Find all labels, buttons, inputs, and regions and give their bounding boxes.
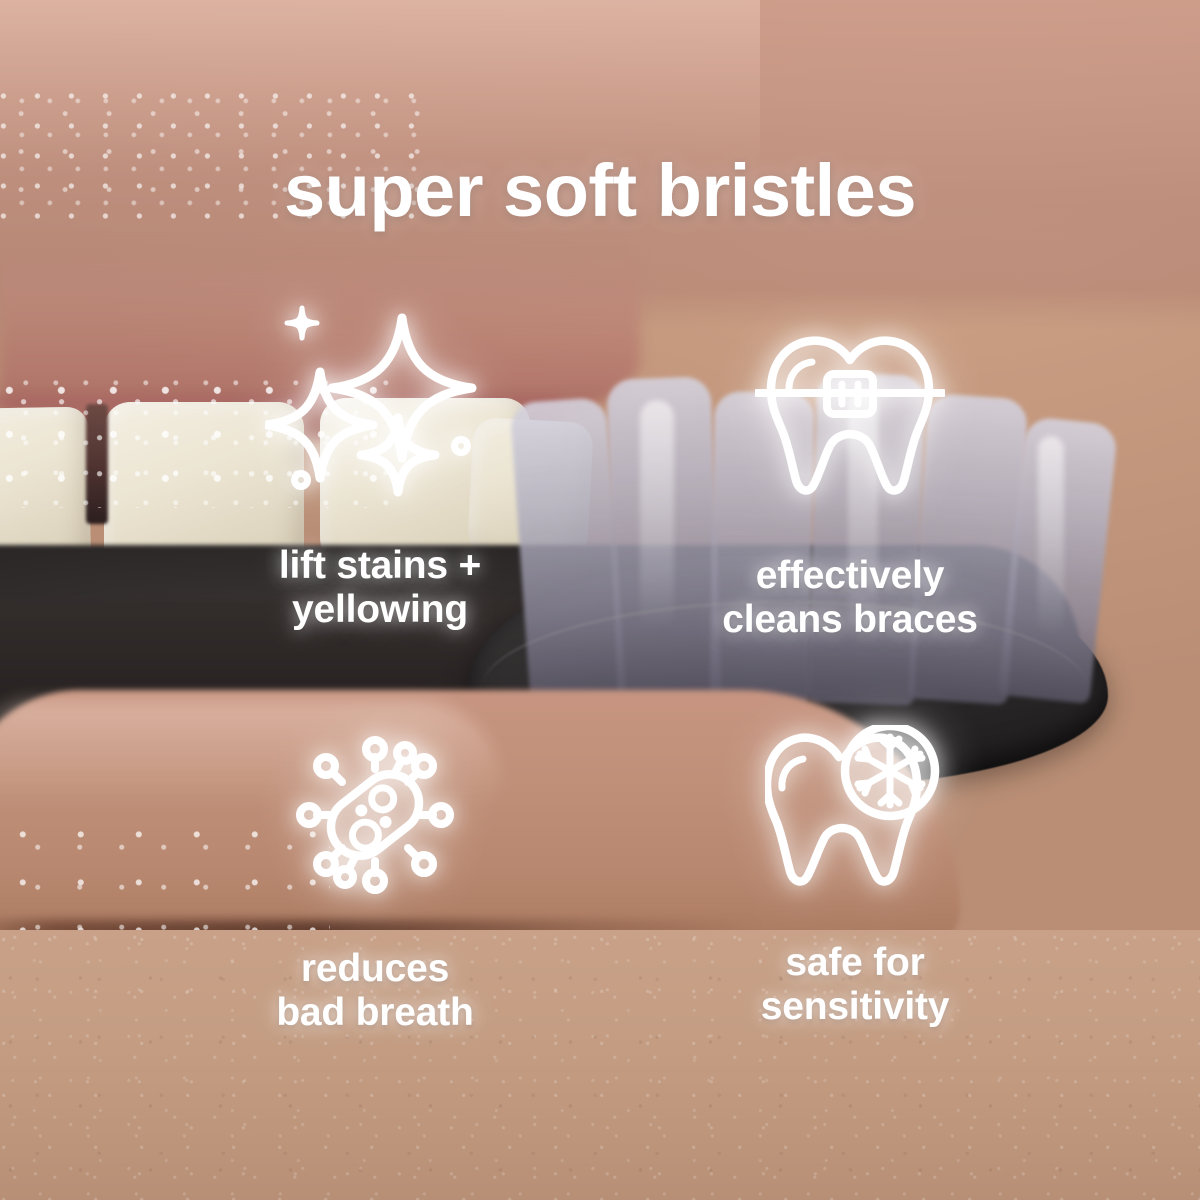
germ-icon [180,735,570,895]
feature-caption: safe for sensitivity [660,941,1050,1028]
product-feature-graphic: super soft bristles lift stain [0,0,1200,1200]
overlay-graphics: super soft bristles lift stain [0,0,1200,1200]
sparkles-icon [190,300,570,500]
feature-cleans-braces: effectively cleans braces [650,330,1050,641]
feature-reduces-bad-breath: reduces bad breath [180,735,570,1034]
feature-caption: effectively cleans braces [650,554,1050,641]
tooth-braces-icon [650,330,1050,502]
feature-safe-for-sensitivity: safe for sensitivity [660,725,1050,1028]
feature-caption: lift stains + yellowing [190,544,570,631]
feature-lift-stains: lift stains + yellowing [190,300,570,631]
feature-caption: reduces bad breath [180,947,570,1034]
page-title: super soft bristles [0,152,1200,230]
tooth-snowflake-icon [660,725,1050,897]
